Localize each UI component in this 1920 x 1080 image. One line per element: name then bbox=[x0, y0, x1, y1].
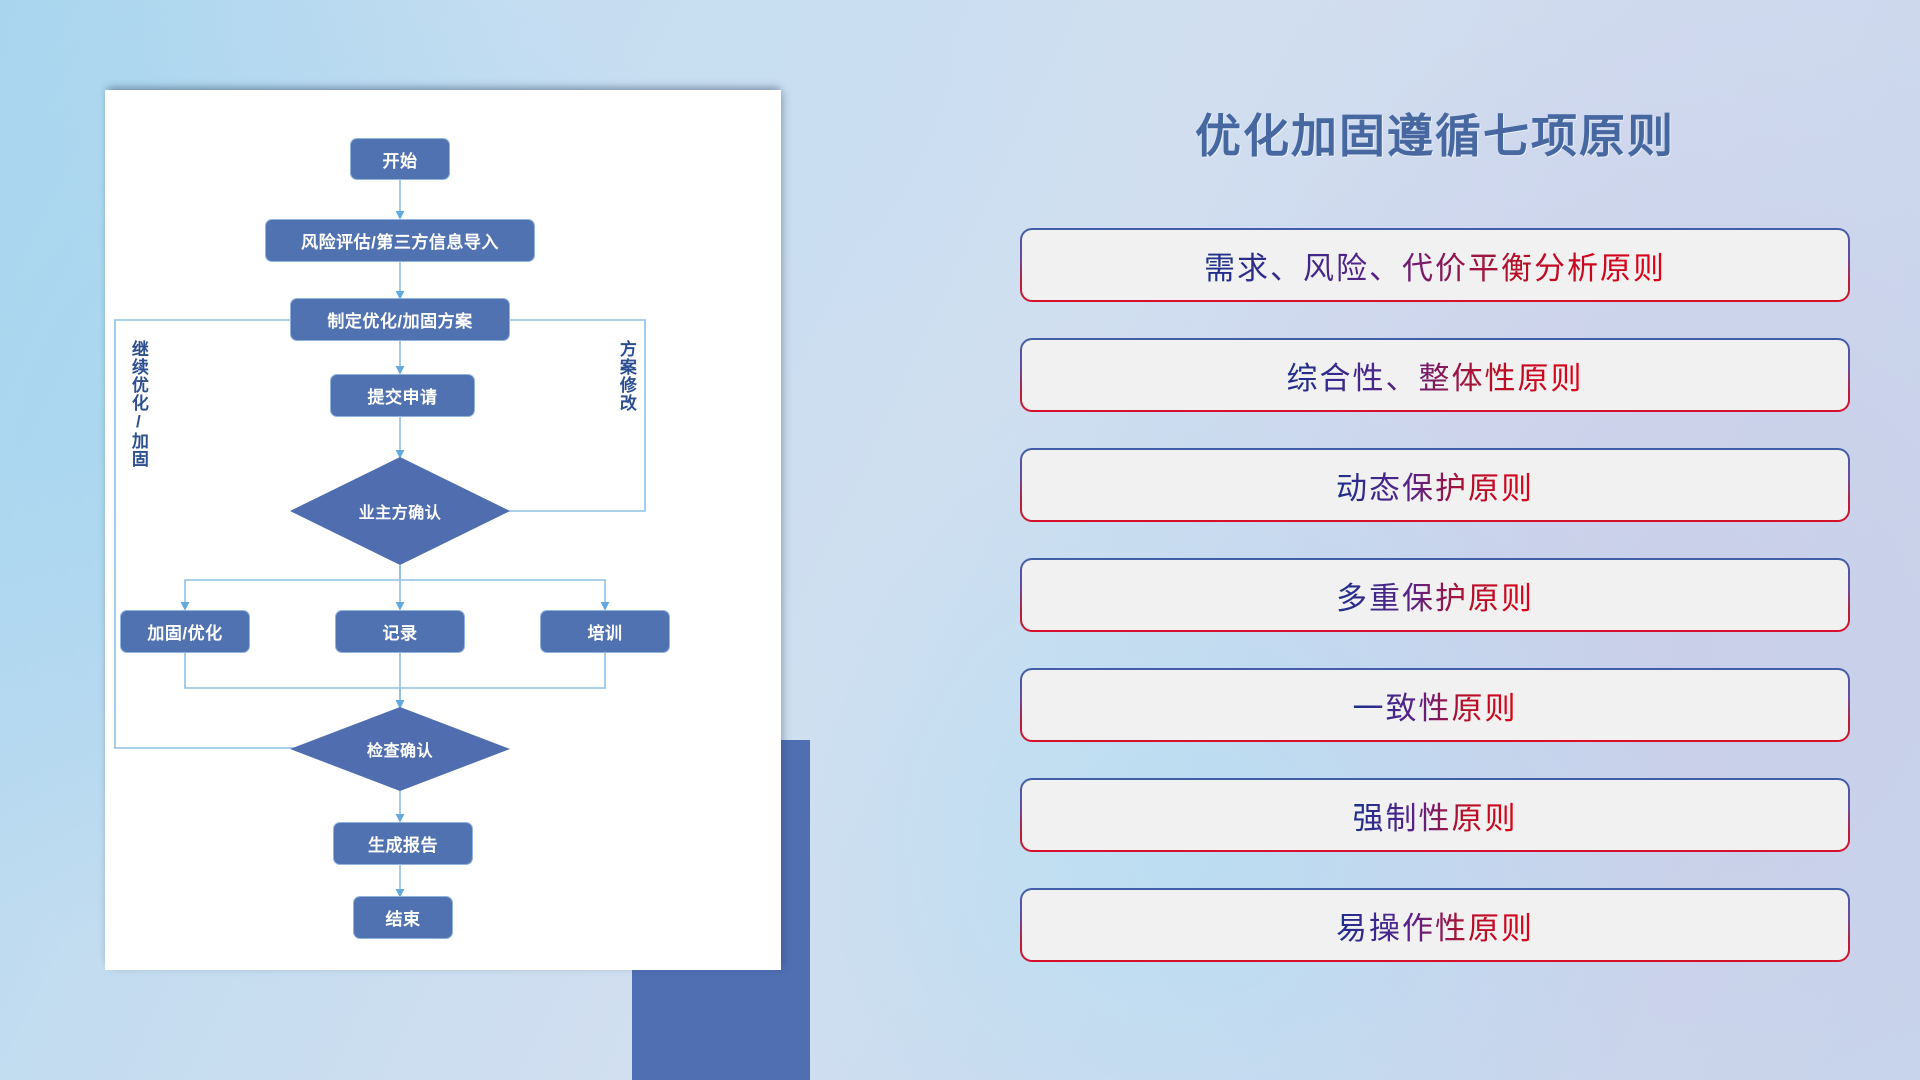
principles-title: 优化加固遵循七项原则 bbox=[1020, 100, 1850, 166]
flowchart-panel: 开始 风险评估/第三方信息导入 制定优化/加固方案 提交申请 业主方确认 加固/… bbox=[105, 90, 805, 980]
principle-item-inner: 强制性原则 bbox=[1022, 780, 1848, 850]
principle-label: 强制性原则 bbox=[1353, 793, 1518, 838]
flow-node-end[interactable]: 结束 bbox=[353, 896, 453, 939]
flow-node-label: 业主方确认 bbox=[359, 499, 442, 523]
principle-item[interactable]: 多重保护原则 bbox=[1020, 558, 1850, 632]
principles-list: 需求、风险、代价平衡分析原则 综合性、整体性原则 动态保护原则 多重保护原则 bbox=[1020, 228, 1850, 998]
principle-item-inner: 综合性、整体性原则 bbox=[1022, 340, 1848, 410]
principle-item-inner: 易操作性原则 bbox=[1022, 890, 1848, 960]
principle-item[interactable]: 需求、风险、代价平衡分析原则 bbox=[1020, 228, 1850, 302]
principle-item[interactable]: 综合性、整体性原则 bbox=[1020, 338, 1850, 412]
flow-node-label: 加固/优化 bbox=[147, 619, 222, 644]
principle-item-inner: 多重保护原则 bbox=[1022, 560, 1848, 630]
flow-node-label: 结束 bbox=[386, 905, 421, 930]
flow-node-record[interactable]: 记录 bbox=[335, 610, 465, 653]
principle-label: 综合性、整体性原则 bbox=[1287, 353, 1584, 398]
flow-edge-label-continue-optimize: 继续优化/加固 bbox=[129, 340, 147, 540]
flow-node-generate-report[interactable]: 生成报告 bbox=[333, 822, 473, 865]
principle-item[interactable]: 一致性原则 bbox=[1020, 668, 1850, 742]
principle-label: 动态保护原则 bbox=[1336, 463, 1534, 508]
flow-node-reinforce-optimize[interactable]: 加固/优化 bbox=[120, 610, 250, 653]
flow-node-label: 风险评估/第三方信息导入 bbox=[301, 228, 499, 253]
flow-node-label: 培训 bbox=[588, 619, 623, 644]
flow-node-label: 检查确认 bbox=[367, 737, 433, 761]
principle-item-inner: 一致性原则 bbox=[1022, 670, 1848, 740]
principle-label: 多重保护原则 bbox=[1336, 573, 1534, 618]
principle-item-inner: 动态保护原则 bbox=[1022, 450, 1848, 520]
principle-item[interactable]: 动态保护原则 bbox=[1020, 448, 1850, 522]
principle-label: 需求、风险、代价平衡分析原则 bbox=[1204, 243, 1666, 288]
flow-node-start[interactable]: 开始 bbox=[350, 138, 450, 180]
flow-node-label: 生成报告 bbox=[368, 831, 438, 856]
flow-edge-label-plan-revision: 方案修改 bbox=[617, 340, 635, 490]
flowchart-card: 开始 风险评估/第三方信息导入 制定优化/加固方案 提交申请 业主方确认 加固/… bbox=[105, 90, 781, 970]
principle-item-inner: 需求、风险、代价平衡分析原则 bbox=[1022, 230, 1848, 300]
flow-node-training[interactable]: 培训 bbox=[540, 610, 670, 653]
flow-node-label: 提交申请 bbox=[368, 383, 438, 408]
flow-node-submit-application[interactable]: 提交申请 bbox=[330, 374, 475, 417]
flow-node-label: 记录 bbox=[383, 619, 418, 644]
flow-node-risk-assessment[interactable]: 风险评估/第三方信息导入 bbox=[265, 219, 535, 262]
flow-node-label: 开始 bbox=[383, 147, 418, 172]
principle-item[interactable]: 易操作性原则 bbox=[1020, 888, 1850, 962]
slide-canvas: 开始 风险评估/第三方信息导入 制定优化/加固方案 提交申请 业主方确认 加固/… bbox=[0, 0, 1920, 1080]
principle-label: 易操作性原则 bbox=[1336, 903, 1534, 948]
flow-node-label: 制定优化/加固方案 bbox=[327, 307, 472, 332]
principle-label: 一致性原则 bbox=[1353, 683, 1518, 728]
principles-panel: 优化加固遵循七项原则 需求、风险、代价平衡分析原则 综合性、整体性原则 动态保护… bbox=[1020, 100, 1850, 1000]
principle-item[interactable]: 强制性原则 bbox=[1020, 778, 1850, 852]
flow-node-make-plan[interactable]: 制定优化/加固方案 bbox=[290, 298, 510, 341]
